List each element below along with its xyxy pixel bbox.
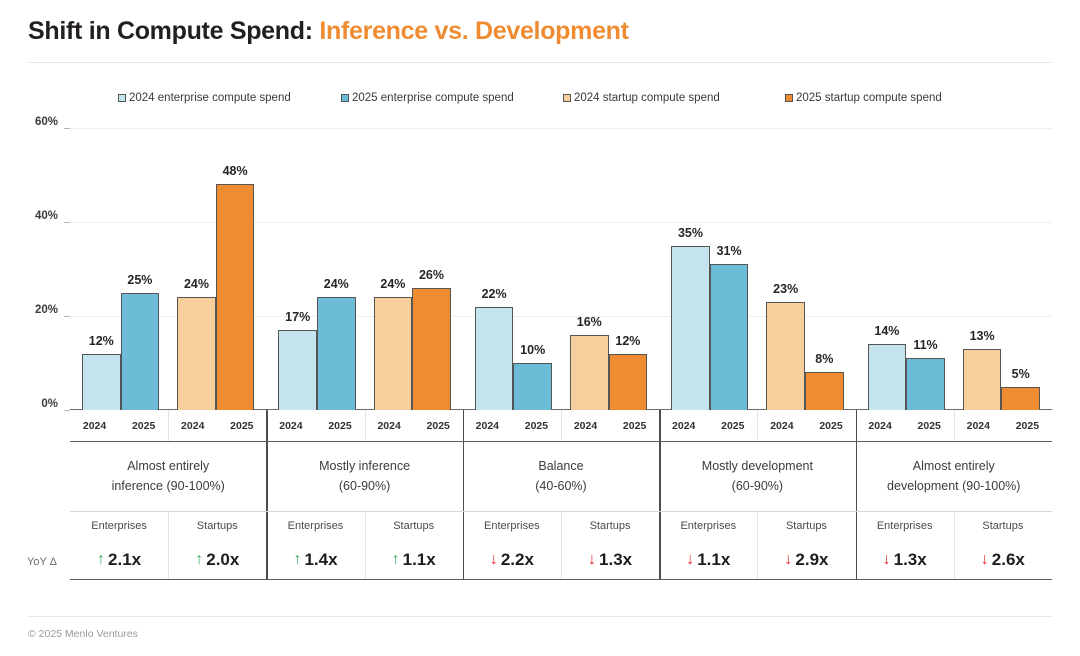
bar-value-label: 8%	[815, 352, 833, 366]
segment-divider	[561, 512, 562, 540]
gridline	[70, 128, 1052, 129]
category-label-line1: Balance	[538, 457, 583, 476]
arrow-down-icon: ↓	[588, 552, 596, 568]
year-label: 2025	[119, 410, 168, 441]
y-axis-tick-label: 40%	[35, 210, 58, 222]
yoy-multiplier: 1.3x	[599, 550, 632, 570]
title-main: Shift in Compute Spend:	[28, 17, 319, 45]
yoy-value-cell: ↑2.1x	[70, 540, 168, 579]
bar	[121, 293, 160, 411]
year-label: 2024	[266, 410, 315, 441]
legend-item: 2024 enterprise compute spend	[118, 92, 341, 104]
group-divider	[463, 410, 464, 441]
year-label: 2025	[806, 410, 855, 441]
bar-value-label: 24%	[184, 277, 209, 291]
segment-label: Startups	[757, 512, 855, 540]
bar	[1001, 387, 1040, 411]
segment-label: Startups	[954, 512, 1052, 540]
legend-swatch-icon	[563, 94, 571, 102]
category-label: Balance(40-60%)	[463, 442, 659, 511]
bar	[609, 354, 648, 410]
year-label: 2025	[414, 410, 463, 441]
yoy-value-cell: ↓1.1x	[659, 540, 757, 579]
footer-copyright: © 2025 Menlo Ventures	[28, 628, 138, 640]
bar-value-label: 5%	[1012, 367, 1030, 381]
segment-divider	[365, 540, 366, 579]
bar-value-label: 12%	[89, 334, 114, 348]
group-divider	[266, 512, 267, 540]
segment-label: Enterprises	[659, 512, 757, 540]
category-label-line2: (40-60%)	[535, 477, 586, 496]
bar-value-label: 23%	[773, 282, 798, 296]
segment-header-row: EnterprisesStartupsEnterprisesStartupsEn…	[70, 512, 1052, 540]
bar-value-label: 31%	[717, 244, 742, 258]
yoy-multiplier: 2.1x	[108, 550, 141, 570]
arrow-down-icon: ↓	[784, 552, 792, 568]
arrow-up-icon: ↑	[195, 552, 203, 568]
group-divider	[266, 540, 267, 579]
year-label: 2024	[659, 410, 708, 441]
yoy-value-cell: ↓1.3x	[561, 540, 659, 579]
yoy-multiplier: 1.4x	[304, 550, 337, 570]
yoy-value-cell: ↑2.0x	[168, 540, 266, 579]
category-label: Almost entirelyinference (90-100%)	[70, 442, 266, 511]
bar-value-label: 13%	[970, 329, 995, 343]
segment-divider	[757, 512, 758, 540]
category-label-line2: (60-90%)	[732, 477, 783, 496]
category-label-line1: Mostly development	[702, 457, 813, 476]
segment-divider	[168, 512, 169, 540]
category-label: Almost entirelydevelopment (90-100%)	[856, 442, 1052, 511]
y-axis-tick	[64, 222, 70, 223]
bar-value-label: 16%	[577, 315, 602, 329]
y-axis-tick-label: 20%	[35, 304, 58, 316]
bar	[805, 372, 844, 410]
bar-value-label: 48%	[223, 164, 248, 178]
group-divider	[856, 410, 857, 441]
legend-item: 2025 enterprise compute spend	[341, 92, 563, 104]
segment-divider	[168, 410, 169, 441]
group-divider	[856, 512, 857, 540]
segment-divider	[365, 512, 366, 540]
yoy-value-cell: ↑1.4x	[266, 540, 364, 579]
legend-item: 2025 startup compute spend	[785, 92, 942, 104]
category-label-line1: Mostly inference	[319, 457, 410, 476]
chart-table: 2024202520242025202420252024202520242025…	[70, 410, 1052, 580]
yoy-row-label: YoY Δ	[27, 556, 57, 568]
bar-value-label: 22%	[482, 287, 507, 301]
legend-item: 2024 startup compute spend	[563, 92, 785, 104]
year-label: 2024	[856, 410, 905, 441]
bar	[868, 344, 907, 410]
title-accent: Inference vs. Development	[319, 17, 628, 45]
group-divider	[659, 442, 660, 511]
yoy-multiplier: 2.0x	[206, 550, 239, 570]
category-label-line2: inference (90-100%)	[112, 477, 225, 496]
yoy-value-cell: ↓2.6x	[954, 540, 1052, 579]
yoy-multiplier: 2.9x	[795, 550, 828, 570]
footer-divider	[28, 616, 1052, 617]
arrow-down-icon: ↓	[686, 552, 694, 568]
segment-divider	[954, 512, 955, 540]
year-label: 2024	[463, 410, 512, 441]
bar-value-label: 26%	[419, 268, 444, 282]
year-label: 2025	[905, 410, 954, 441]
segment-divider	[954, 540, 955, 579]
year-label: 2024	[70, 410, 119, 441]
yoy-value-cell: ↓2.9x	[757, 540, 855, 579]
group-divider	[856, 442, 857, 511]
bar	[412, 288, 451, 410]
bar-value-label: 14%	[874, 324, 899, 338]
group-divider	[463, 442, 464, 511]
year-label: 2024	[757, 410, 806, 441]
year-label: 2025	[512, 410, 561, 441]
bar	[570, 335, 609, 410]
category-label-line1: Almost entirely	[127, 457, 209, 476]
bar	[82, 354, 121, 410]
segment-divider	[168, 540, 169, 579]
yoy-multiplier: 1.1x	[403, 550, 436, 570]
category-label: Mostly inference(60-90%)	[266, 442, 462, 511]
plot-area: 12%25%24%48%17%24%24%26%22%10%16%12%35%3…	[70, 128, 1052, 410]
segment-label: Startups	[561, 512, 659, 540]
legend-swatch-icon	[118, 94, 126, 102]
chart-legend: 2024 enterprise compute spend2025 enterp…	[118, 92, 988, 104]
year-label: 2024	[365, 410, 414, 441]
year-label: 2025	[708, 410, 757, 441]
segment-label: Enterprises	[266, 512, 364, 540]
legend-swatch-icon	[341, 94, 349, 102]
year-label: 2025	[610, 410, 659, 441]
year-label: 2025	[315, 410, 364, 441]
bar	[177, 297, 216, 410]
page-title: Shift in Compute Spend: Inference vs. De…	[28, 17, 629, 46]
segment-divider	[561, 540, 562, 579]
y-axis-tick-label: 0%	[41, 398, 58, 410]
y-axis-tick-label: 60%	[35, 116, 58, 128]
bar-value-label: 12%	[615, 334, 640, 348]
legend-label: 2025 startup compute spend	[796, 92, 942, 104]
bar	[216, 184, 255, 410]
legend-swatch-icon	[785, 94, 793, 102]
yoy-multiplier: 1.1x	[697, 550, 730, 570]
category-label-line1: Almost entirely	[913, 457, 995, 476]
segment-label: Enterprises	[856, 512, 954, 540]
year-label: 2024	[168, 410, 217, 441]
yoy-value-cell: ↑1.1x	[365, 540, 463, 579]
bar	[710, 264, 749, 410]
segment-divider	[757, 410, 758, 441]
category-row: Almost entirelyinference (90-100%)Mostly…	[70, 442, 1052, 512]
legend-label: 2024 enterprise compute spend	[129, 92, 291, 104]
segment-label: Enterprises	[70, 512, 168, 540]
bar-value-label: 24%	[380, 277, 405, 291]
category-label: Mostly development(60-90%)	[659, 442, 855, 511]
y-axis-tick	[64, 128, 70, 129]
yoy-multiplier: 2.2x	[501, 550, 534, 570]
bar-value-label: 17%	[285, 310, 310, 324]
bar-value-label: 35%	[678, 226, 703, 240]
group-divider	[463, 540, 464, 579]
segment-divider	[954, 410, 955, 441]
y-axis-tick	[64, 316, 70, 317]
bar	[278, 330, 317, 410]
group-divider	[463, 512, 464, 540]
bar	[671, 246, 710, 411]
group-divider	[266, 410, 267, 441]
segment-label: Startups	[168, 512, 266, 540]
yoy-value-cell: ↓2.2x	[463, 540, 561, 579]
legend-label: 2024 startup compute spend	[574, 92, 720, 104]
header-divider	[28, 62, 1052, 63]
category-label-line2: (60-90%)	[339, 477, 390, 496]
category-label-line2: development (90-100%)	[887, 477, 1020, 496]
arrow-down-icon: ↓	[490, 552, 498, 568]
arrow-up-icon: ↑	[293, 552, 301, 568]
arrow-up-icon: ↑	[97, 552, 105, 568]
segment-divider	[365, 410, 366, 441]
chart-page: Shift in Compute Spend: Inference vs. De…	[0, 0, 1080, 656]
y-axis-labels: 0%20%40%60%	[14, 122, 64, 416]
year-label: 2024	[954, 410, 1003, 441]
segment-divider	[757, 540, 758, 579]
segment-label: Startups	[365, 512, 463, 540]
group-divider	[659, 540, 660, 579]
bar	[317, 297, 356, 410]
yoy-value-cell: ↓1.3x	[856, 540, 954, 579]
bar-value-label: 10%	[520, 343, 545, 357]
arrow-down-icon: ↓	[883, 552, 891, 568]
group-divider	[659, 512, 660, 540]
bar	[475, 307, 514, 410]
bar	[963, 349, 1002, 410]
yoy-row: ↑2.1x↑2.0x↑1.4x↑1.1x↓2.2x↓1.3x↓1.1x↓2.9x…	[70, 540, 1052, 580]
year-label: 2024	[561, 410, 610, 441]
group-divider	[266, 442, 267, 511]
year-header-row: 2024202520242025202420252024202520242025…	[70, 410, 1052, 442]
arrow-up-icon: ↑	[392, 552, 400, 568]
bar-value-label: 24%	[324, 277, 349, 291]
year-label: 2025	[1003, 410, 1052, 441]
bar	[766, 302, 805, 410]
bar-value-label: 25%	[127, 273, 152, 287]
arrow-down-icon: ↓	[981, 552, 989, 568]
yoy-multiplier: 1.3x	[894, 550, 927, 570]
segment-label: Enterprises	[463, 512, 561, 540]
bar	[513, 363, 552, 410]
segment-divider	[561, 410, 562, 441]
group-divider	[659, 410, 660, 441]
group-divider	[856, 540, 857, 579]
bar	[906, 358, 945, 410]
year-label: 2025	[217, 410, 266, 441]
bar-value-label: 11%	[913, 338, 937, 352]
yoy-multiplier: 2.6x	[992, 550, 1025, 570]
bar	[374, 297, 413, 410]
legend-label: 2025 enterprise compute spend	[352, 92, 514, 104]
